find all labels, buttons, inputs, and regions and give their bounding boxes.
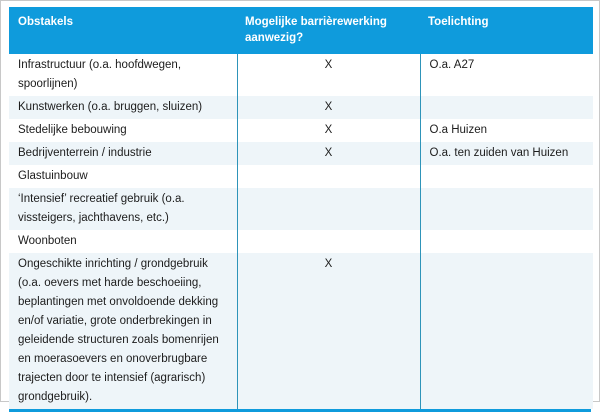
table-row: Bedrijventerrein / industrie X O.a. ten … <box>9 142 593 165</box>
cell-obstacle: Stedelijke bebouwing <box>9 119 237 142</box>
cell-obstacle: Bedrijventerrein / industrie <box>9 142 237 165</box>
obstacle-text: Stedelijke bebouwing <box>18 121 229 140</box>
cell-barrier <box>237 230 420 253</box>
cell-obstacle: Kunstwerken (o.a. bruggen, sluizen) <box>9 96 237 119</box>
cell-obstacle: ‘Intensief’ recreatief gebruik (o.a. vis… <box>9 188 237 230</box>
note-text: O.a. A27 <box>430 56 586 75</box>
cell-barrier <box>237 188 420 230</box>
obstacle-text: Glastuinbouw <box>18 167 229 186</box>
note-text: O.a Huizen <box>430 121 586 140</box>
table-row: Ongeschikte inrichting / grondgebruik (o… <box>9 253 593 409</box>
obstacle-text: Woonboten <box>18 232 229 251</box>
cell-barrier <box>237 165 420 188</box>
column-header-note: Toelichting <box>420 7 593 54</box>
cell-note <box>420 188 593 230</box>
obstacle-text: Kunstwerken (o.a. bruggen, sluizen) <box>18 98 229 117</box>
cell-note <box>420 253 593 409</box>
table-row: Glastuinbouw <box>9 165 593 188</box>
table-row: Stedelijke bebouwing X O.a Huizen <box>9 119 593 142</box>
table-header: Obstakels Mogelijke barrièrewerking aanw… <box>9 7 593 54</box>
barrier-mark: X <box>238 98 420 117</box>
cell-obstacle: Ongeschikte inrichting / grondgebruik (o… <box>9 253 237 409</box>
cell-note <box>420 230 593 253</box>
cell-barrier: X <box>237 96 420 119</box>
cell-obstacle: Woonboten <box>9 230 237 253</box>
cell-note <box>420 165 593 188</box>
page-frame: Obstakels Mogelijke barrièrewerking aanw… <box>0 0 600 402</box>
barrier-mark: X <box>238 121 420 140</box>
column-header-barrier: Mogelijke barrièrewerking aanwezig? <box>237 7 420 54</box>
table-row: Infrastructuur (o.a. hoofdwegen, spoorli… <box>9 54 593 96</box>
table-header-row: Obstakels Mogelijke barrièrewerking aanw… <box>9 7 593 54</box>
column-header-obstacle: Obstakels <box>9 7 237 54</box>
cell-note: O.a. A27 <box>420 54 593 96</box>
table-body: Infrastructuur (o.a. hoofdwegen, spoorli… <box>9 54 593 409</box>
obstacles-table: Obstakels Mogelijke barrièrewerking aanw… <box>9 7 593 409</box>
table-row: Woonboten <box>9 230 593 253</box>
cell-obstacle: Infrastructuur (o.a. hoofdwegen, spoorli… <box>9 54 237 96</box>
barrier-mark: X <box>238 56 420 75</box>
cell-obstacle: Glastuinbouw <box>9 165 237 188</box>
cell-barrier: X <box>237 253 420 409</box>
barrier-mark: X <box>238 144 420 163</box>
cell-note: O.a. ten zuiden van Huizen <box>420 142 593 165</box>
barrier-mark: X <box>238 255 420 274</box>
cell-barrier: X <box>237 119 420 142</box>
cell-barrier: X <box>237 54 420 96</box>
obstacle-text: ‘Intensief’ recreatief gebruik (o.a. vis… <box>18 190 229 228</box>
obstacle-text: Infrastructuur (o.a. hoofdwegen, spoorli… <box>18 56 229 94</box>
table-row: ‘Intensief’ recreatief gebruik (o.a. vis… <box>9 188 593 230</box>
obstacle-text: Bedrijventerrein / industrie <box>18 144 229 163</box>
obstacle-text: Ongeschikte inrichting / grondgebruik (o… <box>18 255 229 407</box>
cell-note <box>420 96 593 119</box>
cell-barrier: X <box>237 142 420 165</box>
cell-note: O.a Huizen <box>420 119 593 142</box>
table-row: Kunstwerken (o.a. bruggen, sluizen) X <box>9 96 593 119</box>
note-text: O.a. ten zuiden van Huizen <box>430 144 586 163</box>
